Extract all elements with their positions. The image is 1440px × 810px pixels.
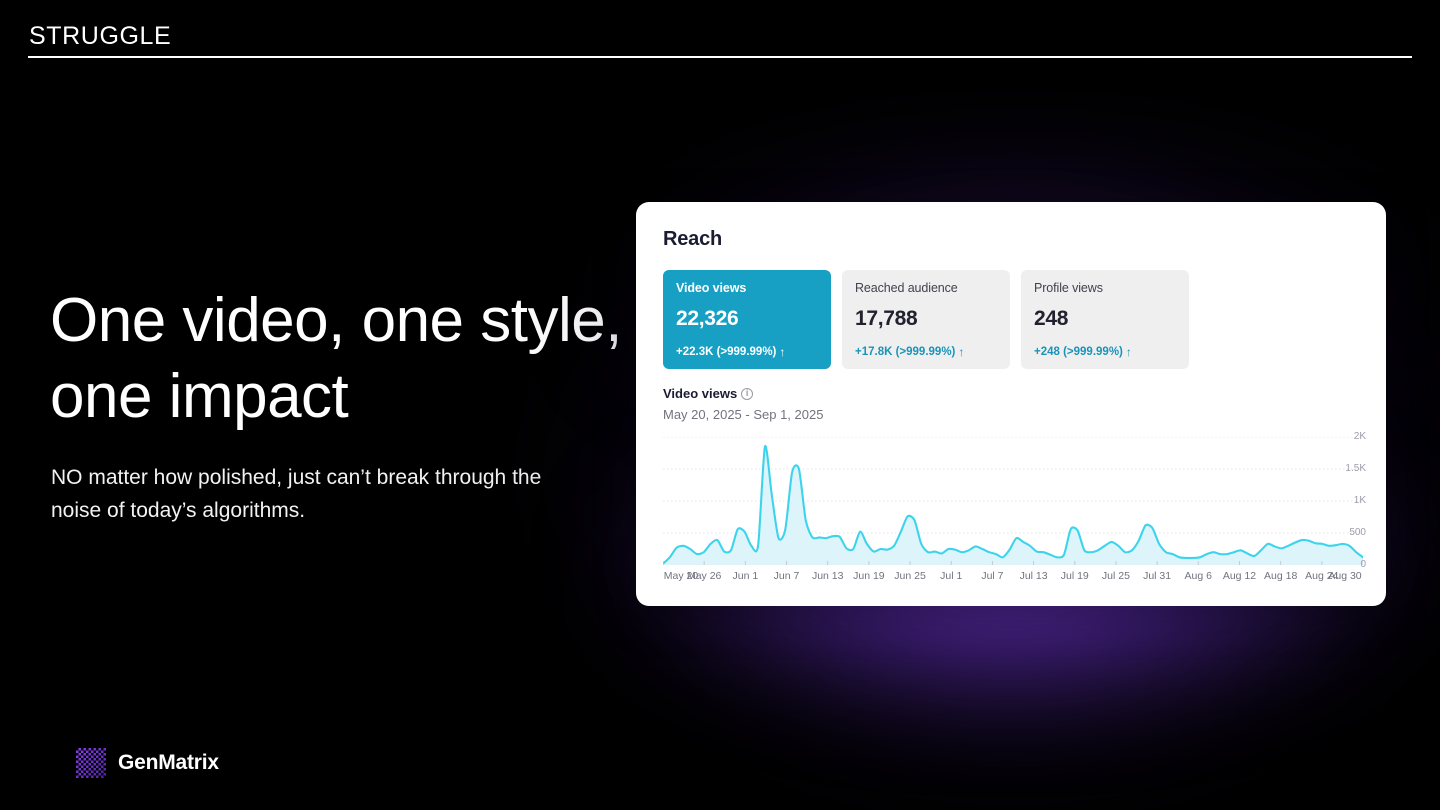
- arrow-up-icon: ↑: [1126, 346, 1132, 358]
- x-axis-tick: May 26: [687, 570, 721, 582]
- metric-tiles: Video views 22,326 +22.3K (>999.99%) ↑ R…: [663, 270, 1361, 369]
- page-title: STRUGGLE: [29, 22, 171, 51]
- x-axis-tick: Jul 19: [1061, 570, 1089, 582]
- chart-x-axis: May 20May 26Jun 1Jun 7Jun 13Jun 19Jun 25…: [663, 570, 1363, 588]
- tile-label: Reached audience: [855, 281, 997, 295]
- tile-delta-text: +17.8K (>999.99%): [855, 346, 955, 358]
- tile-value: 17,788: [855, 307, 997, 331]
- y-axis-tick: 0: [1332, 559, 1366, 570]
- chart-date-range: May 20, 2025 - Sep 1, 2025: [663, 407, 1361, 422]
- brand-name: GenMatrix: [118, 751, 219, 775]
- y-axis-tick: 1.5K: [1332, 463, 1366, 474]
- tile-delta: +248 (>999.99%) ↑: [1034, 346, 1132, 358]
- x-axis-tick: Aug 6: [1185, 570, 1212, 582]
- info-icon[interactable]: i: [741, 388, 753, 400]
- x-axis-tick: Aug 12: [1223, 570, 1256, 582]
- arrow-up-icon: ↑: [958, 346, 964, 358]
- analytics-card: Reach Video views 22,326 +22.3K (>999.99…: [636, 202, 1386, 606]
- metric-tile-profile-views[interactable]: Profile views 248 +248 (>999.99%) ↑: [1021, 270, 1189, 369]
- tile-value: 248: [1034, 307, 1176, 331]
- tile-label: Video views: [676, 281, 818, 295]
- chart-series-label: Video views: [663, 386, 737, 401]
- slide-header: STRUGGLE: [0, 0, 1440, 70]
- chart-plot-area: 2K1.5K1K5000: [663, 437, 1363, 565]
- x-axis-tick: Jul 13: [1020, 570, 1048, 582]
- x-axis-tick: Jun 25: [894, 570, 926, 582]
- tile-delta: +17.8K (>999.99%) ↑: [855, 346, 964, 358]
- x-axis-tick: Jul 25: [1102, 570, 1130, 582]
- tile-delta: +22.3K (>999.99%) ↑: [676, 346, 785, 358]
- checkerboard-logo-icon: [76, 748, 106, 778]
- tile-delta-text: +22.3K (>999.99%): [676, 346, 776, 358]
- chart-series-row: Video views i: [663, 386, 1361, 401]
- x-axis-tick: Jun 7: [774, 570, 800, 582]
- y-axis-tick: 1K: [1332, 495, 1366, 506]
- chart-y-axis: 2K1.5K1K5000: [1332, 427, 1366, 555]
- headline: One video, one style, one impact: [50, 283, 650, 434]
- arrow-up-icon: ↑: [779, 346, 785, 358]
- metric-tile-video-views[interactable]: Video views 22,326 +22.3K (>999.99%) ↑: [663, 270, 831, 369]
- x-axis-tick: Aug 30: [1328, 570, 1361, 582]
- x-axis-tick: Jul 7: [981, 570, 1003, 582]
- x-axis-tick: Jun 19: [853, 570, 885, 582]
- tile-label: Profile views: [1034, 281, 1176, 295]
- header-divider: [28, 56, 1412, 58]
- chart-header: Video views i May 20, 2025 - Sep 1, 2025: [663, 386, 1361, 422]
- views-line-chart: [663, 437, 1363, 565]
- x-axis-tick: Jun 1: [733, 570, 759, 582]
- y-axis-tick: 500: [1332, 527, 1366, 538]
- x-axis-tick: Jul 1: [940, 570, 962, 582]
- tile-value: 22,326: [676, 307, 818, 331]
- x-axis-tick: Jun 13: [812, 570, 844, 582]
- card-title: Reach: [663, 228, 1361, 251]
- tile-delta-text: +248 (>999.99%): [1034, 346, 1123, 358]
- y-axis-tick: 2K: [1332, 431, 1366, 442]
- x-axis-tick: Jul 31: [1143, 570, 1171, 582]
- metric-tile-reached-audience[interactable]: Reached audience 17,788 +17.8K (>999.99%…: [842, 270, 1010, 369]
- brand-logo: GenMatrix: [76, 748, 219, 778]
- x-axis-tick: Aug 18: [1264, 570, 1297, 582]
- subheadline: NO matter how polished, just can’t break…: [51, 462, 591, 527]
